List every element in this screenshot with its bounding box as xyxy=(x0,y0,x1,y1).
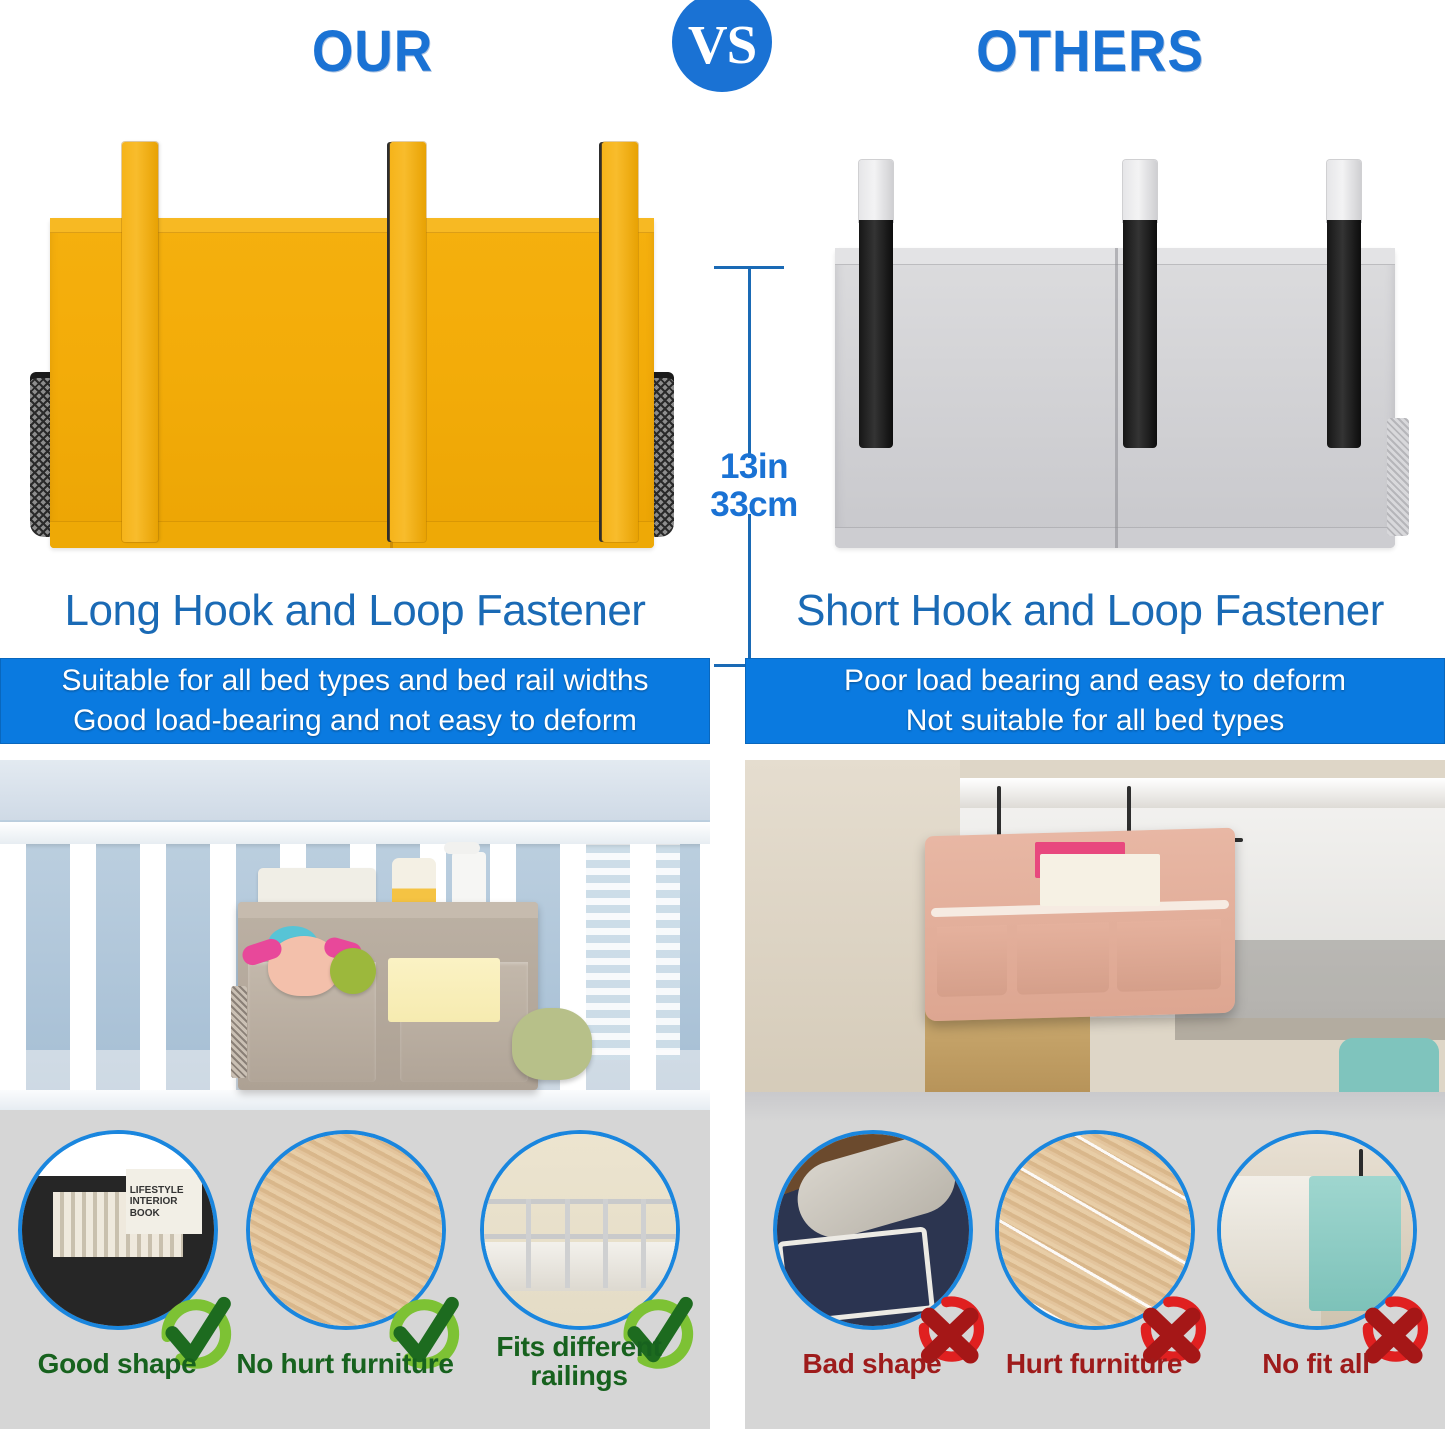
dimension-inches: 13in xyxy=(700,448,808,486)
plush-cow-toy xyxy=(268,936,340,996)
book-title-text: LIFESTYLE INTERIOR BOOK xyxy=(126,1169,203,1220)
strap-velcro xyxy=(1123,220,1157,448)
plush-green-toy xyxy=(330,948,376,994)
card-in-pocket xyxy=(388,958,500,1022)
callout-hurt-furniture: Hurt furniture xyxy=(983,1130,1205,1420)
floor-strip xyxy=(0,1110,710,1122)
strap-fabric xyxy=(1327,160,1361,222)
mesh-side-pocket xyxy=(1387,418,1409,536)
short-strap-3 xyxy=(1327,160,1361,450)
others-heading: OTHERS xyxy=(952,18,1228,85)
body-seam xyxy=(1115,248,1118,548)
dimension-centimeters: 33cm xyxy=(700,486,808,524)
our-fastener-caption: Long Hook and Loop Fastener xyxy=(0,586,710,642)
long-strap-2 xyxy=(390,142,426,542)
callout-label-line-2: railings xyxy=(468,1361,690,1390)
callout-fits-different-railings: Fits different railings xyxy=(468,1130,690,1420)
white-furniture xyxy=(1221,1176,1321,1326)
strap-velcro xyxy=(859,220,893,448)
bed-rail xyxy=(960,778,1445,808)
long-strap-1 xyxy=(122,142,158,542)
front-pocket-2 xyxy=(1017,922,1109,995)
callout-no-hurt-furniture: No hurt furniture xyxy=(234,1130,456,1420)
product-showcase-row: 13in 33cm xyxy=(0,112,1445,582)
strap-fabric xyxy=(859,160,893,222)
strap-velcro xyxy=(1327,220,1361,448)
callout-label-line-1: Fits different xyxy=(468,1332,690,1361)
front-pocket-3 xyxy=(1117,919,1221,992)
our-heading: OUR xyxy=(255,18,490,85)
paper-box-item xyxy=(1040,854,1160,906)
banner-line-2: Not suitable for all bed types xyxy=(906,701,1285,741)
dimension-label: 13in 33cm xyxy=(700,448,808,524)
dimension-line-upper xyxy=(748,268,751,458)
bed-mattress xyxy=(484,1242,676,1292)
our-benefits-banner: Suitable for all bed types and bed rail … xyxy=(0,658,710,744)
callout-label: Good shape xyxy=(6,1349,228,1378)
others-drawbacks-banner: Poor load bearing and easy to deform Not… xyxy=(745,658,1445,744)
callout-label: Hurt furniture xyxy=(983,1349,1205,1378)
others-callouts-panel: Bad shape Hurt furniture No fit all xyxy=(745,1122,1445,1429)
vs-badge-label: VS xyxy=(688,13,756,72)
banner-line-1: Suitable for all bed types and bed rail … xyxy=(61,661,648,701)
front-pocket-1 xyxy=(937,925,1007,997)
our-callouts-panel: LIFESTYLE INTERIOR BOOK Good shape No hu… xyxy=(0,1122,710,1429)
short-strap-1 xyxy=(859,160,893,450)
crib-rail-bottom xyxy=(0,1090,710,1112)
callout-label: Bad shape xyxy=(761,1349,983,1378)
mesh-side-pocket xyxy=(231,986,247,1078)
floor-strip xyxy=(745,1092,1445,1122)
railing-post-4 xyxy=(641,1199,646,1287)
comparison-header: OUR VS OTHERS xyxy=(0,0,1445,112)
railing-bar-top xyxy=(480,1199,680,1204)
plush-elephant-toy xyxy=(512,1008,592,1080)
crib-wall xyxy=(0,760,710,820)
banner-line-1: Poor load bearing and easy to deform xyxy=(844,661,1346,701)
railing-post-2 xyxy=(565,1199,570,1287)
callout-bad-shape: Bad shape xyxy=(761,1130,983,1420)
vs-badge-icon: VS xyxy=(672,0,772,92)
book-cover: LIFESTYLE INTERIOR BOOK xyxy=(126,1169,203,1234)
long-strap-3 xyxy=(602,142,638,542)
railing-bar-bottom xyxy=(480,1234,680,1239)
railing-post-1 xyxy=(526,1199,531,1287)
crib-rail-top xyxy=(0,822,710,844)
banner-line-2: Good load-bearing and not easy to deform xyxy=(73,701,637,741)
strap-fabric xyxy=(1123,160,1157,222)
callout-label: No hurt furniture xyxy=(234,1349,456,1378)
callout-label: No fit all xyxy=(1205,1349,1427,1378)
rolled-fabric xyxy=(789,1130,965,1247)
others-product-in-use-photo xyxy=(745,760,1445,1122)
short-strap-2 xyxy=(1123,160,1157,450)
our-product-yellow-organizer-image xyxy=(22,142,682,572)
our-product-in-use-photo xyxy=(0,760,710,1122)
callout-good-shape: LIFESTYLE INTERIOR BOOK Good shape xyxy=(6,1130,228,1420)
callout-no-fit-all: No fit all xyxy=(1205,1130,1427,1420)
others-fastener-caption: Short Hook and Loop Fastener xyxy=(735,586,1445,642)
others-product-gray-organizer-image xyxy=(815,150,1415,565)
railing-post-3 xyxy=(603,1199,608,1287)
callout-label: Fits different railings xyxy=(468,1332,690,1390)
